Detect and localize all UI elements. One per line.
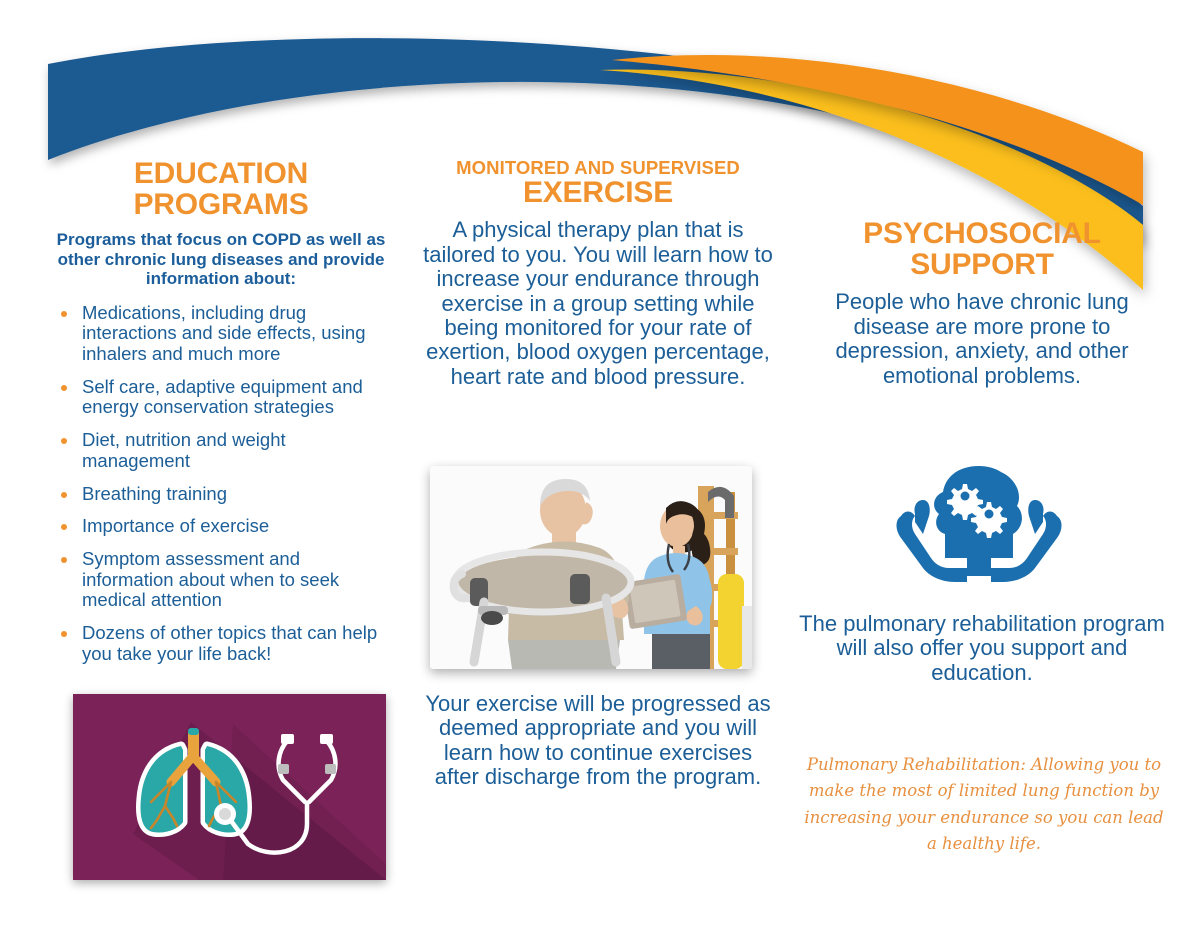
exercise-heading-line1: MONITORED AND SUPERVISED <box>420 158 776 177</box>
list-item-label: Dozens of other topics that can help you… <box>82 622 377 664</box>
column-psychosocial-support: PSYCHOSOCIAL SUPPORT People who have chr… <box>798 218 1166 388</box>
list-item-label: Diet, nutrition and weight management <box>82 429 286 471</box>
list-item: Breathing training <box>46 484 396 505</box>
bullet-dot-icon <box>61 492 67 498</box>
education-heading-line2: PROGRAMS <box>46 189 396 220</box>
list-item-label: Self care, adaptive equipment and energy… <box>82 376 363 418</box>
list-item: Self care, adaptive equipment and energy… <box>46 377 396 418</box>
bullet-dot-icon <box>61 385 67 391</box>
physical-therapy-session-photo <box>430 466 752 669</box>
left-lung-icon <box>141 746 184 833</box>
exercise-paragraph-top: A physical therapy plan that is tailored… <box>420 218 776 389</box>
list-item: Medications, including drug interactions… <box>46 303 396 365</box>
column-monitored-supervised-exercise: MONITORED AND SUPERVISED EXERCISE A phys… <box>420 158 776 389</box>
exercise-paragraph-bottom: Your exercise will be progressed as deem… <box>420 692 776 790</box>
lungs-and-stethoscope-illustration <box>73 694 386 880</box>
list-item-label: Importance of exercise <box>82 515 269 536</box>
bullet-dot-icon <box>61 524 67 530</box>
psychosocial-heading-line1: PSYCHOSOCIAL <box>798 218 1166 249</box>
list-item: Dozens of other topics that can help you… <box>46 623 396 664</box>
list-item-label: Breathing training <box>82 483 227 504</box>
pulmonary-rehab-tagline: Pulmonary Rehabilitation: Allowing you t… <box>798 752 1170 858</box>
bullet-dot-icon <box>61 557 67 563</box>
psychosocial-paragraph-top: People who have chronic lung disease are… <box>798 290 1166 388</box>
list-item: Importance of exercise <box>46 516 396 537</box>
bullet-dot-icon <box>61 631 67 637</box>
bullet-dot-icon <box>61 438 67 444</box>
education-intro-text: Programs that focus on COPD as well as o… <box>46 230 396 288</box>
column-education-programs: EDUCATION PROGRAMS Programs that focus o… <box>46 158 396 677</box>
brochure-page: EDUCATION PROGRAMS Programs that focus o… <box>0 0 1200 927</box>
list-item-label: Medications, including drug interactions… <box>82 302 366 364</box>
list-item-label: Symptom assessment and information about… <box>82 548 339 610</box>
exercise-heading-line2: EXERCISE <box>420 177 776 208</box>
education-bullet-list: Medications, including drug interactions… <box>46 303 396 665</box>
list-item: Symptom assessment and information about… <box>46 549 396 611</box>
education-heading-line1: EDUCATION <box>46 158 396 189</box>
list-item: Diet, nutrition and weight management <box>46 430 396 471</box>
psychosocial-heading-line2: SUPPORT <box>798 249 1166 280</box>
bullet-dot-icon <box>61 311 67 317</box>
psychosocial-paragraph-bottom: The pulmonary rehabilitation program wil… <box>798 612 1166 685</box>
hands-holding-head-with-gears-icon <box>893 462 1065 598</box>
